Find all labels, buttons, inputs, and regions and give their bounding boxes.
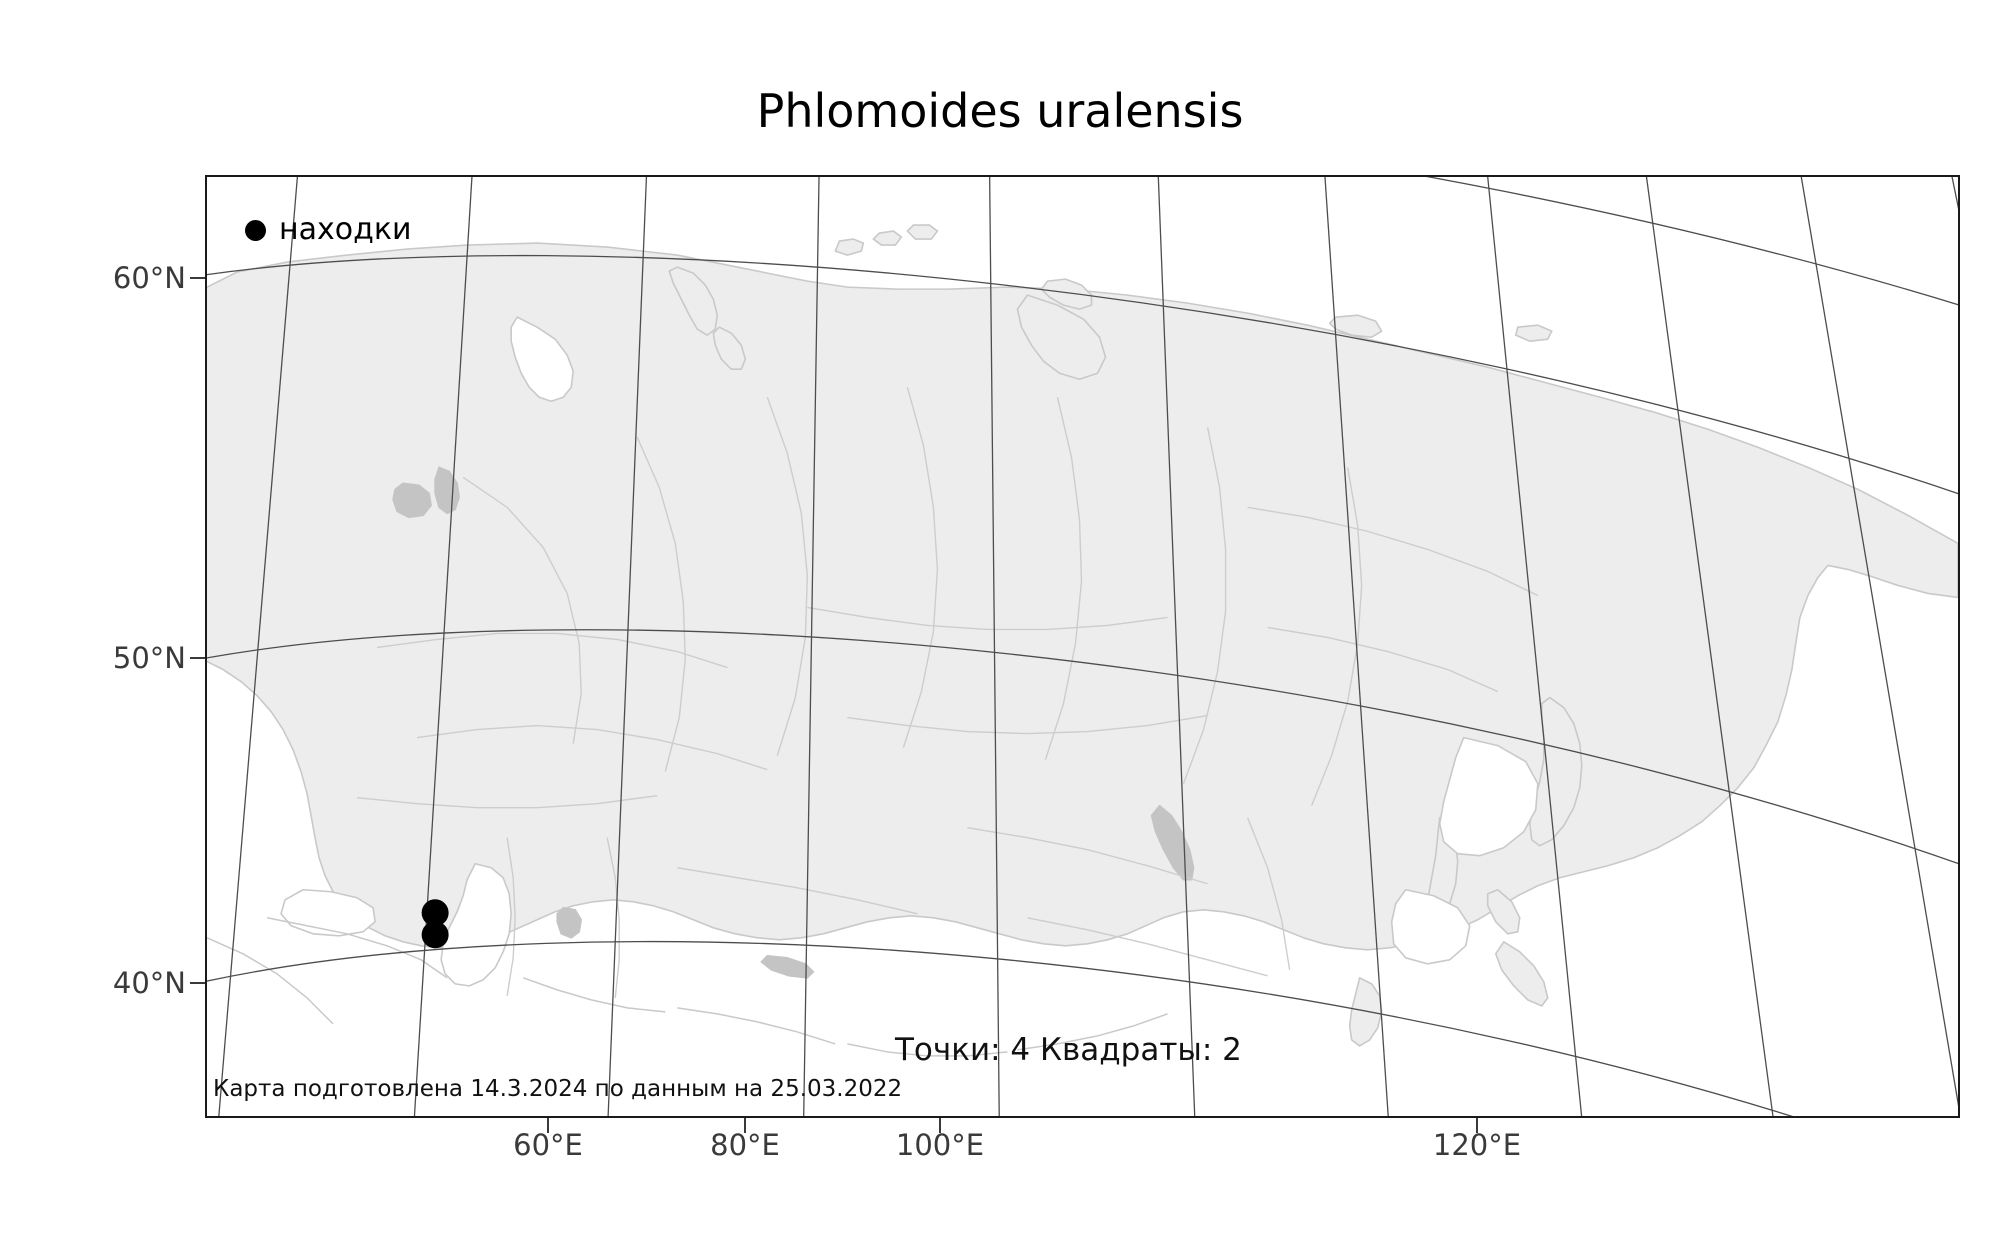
attribution-text: Карта подготовлена 14.3.2024 по данным н… xyxy=(213,1076,902,1102)
occurrence-point[interactable] xyxy=(422,921,449,948)
y-tick-label-60n: 60°N xyxy=(0,261,186,295)
x-tick-mark-60e xyxy=(547,1118,549,1133)
x-tick-mark-80e xyxy=(744,1118,746,1133)
y-tick-label-50n: 50°N xyxy=(0,641,186,675)
x-tick-mark-120e xyxy=(1476,1118,1478,1133)
y-tick-mark-40n xyxy=(190,982,206,984)
map-canvas xyxy=(207,177,1958,1116)
legend-point-icon xyxy=(245,220,266,241)
y-tick-mark-60n xyxy=(190,277,206,279)
page-title: Phlomoides uralensis xyxy=(0,88,2000,134)
y-axis-ticks: 60°N 50°N 40°N xyxy=(0,0,186,1253)
aral-sea xyxy=(557,908,581,938)
y-tick-mark-50n xyxy=(190,657,206,659)
map-page: Phlomoides uralensis 60°N 50°N 40°N 60°E… xyxy=(0,0,2000,1253)
legend-label: находки xyxy=(279,215,411,245)
counts-summary: Точки: 4 Квадраты: 2 xyxy=(895,1032,1242,1068)
legend: находки xyxy=(245,215,411,245)
map-frame[interactable] xyxy=(205,175,1960,1118)
x-tick-label-120e: 120°E xyxy=(1433,1128,1521,1162)
x-tick-label-60e: 60°E xyxy=(513,1128,583,1162)
x-tick-label-80e: 80°E xyxy=(710,1128,780,1162)
y-tick-label-40n: 40°N xyxy=(0,966,186,1000)
x-tick-label-100e: 100°E xyxy=(896,1128,984,1162)
x-tick-mark-100e xyxy=(939,1118,941,1133)
